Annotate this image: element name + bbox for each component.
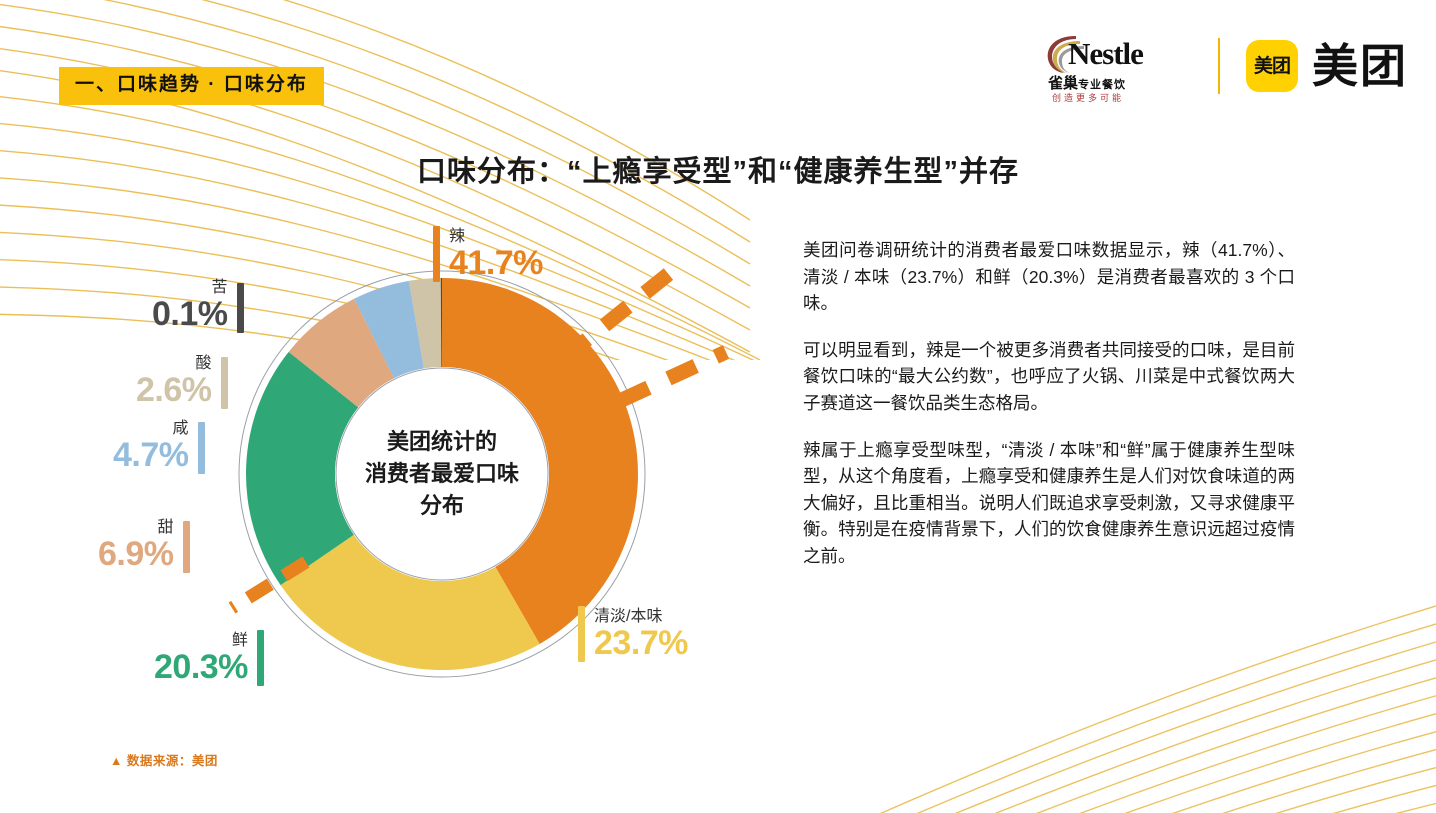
- donut-center-line-3: 分布: [338, 490, 546, 522]
- logo-area: Nestle 雀巢专业餐饮 创造更多可能 美团 美团: [1042, 30, 1408, 102]
- section-badge: 一、口味趋势 · 口味分布: [59, 67, 324, 105]
- donut-center-line-1: 美团统计的: [338, 426, 546, 458]
- callout-xian-umami: 鲜 20.3%: [154, 630, 264, 686]
- callout-bar-suan: [221, 357, 228, 409]
- callout-bar-la: [433, 226, 440, 282]
- callout-value-qingdan: 23.7%: [594, 626, 688, 662]
- callout-suan: 酸 2.6%: [136, 355, 228, 409]
- slide-root: 一、口味趋势 · 口味分布 Nestle 雀巢专业餐饮 创造更多可能 美团 美团…: [0, 0, 1436, 813]
- callout-value-xian-salty: 4.7%: [113, 438, 189, 474]
- analysis-paragraph-1: 美团问卷调研统计的消费者最爱口味数据显示，辣（41.7%）、清淡 / 本味（23…: [803, 237, 1295, 317]
- meituan-wordmark: 美团: [1312, 43, 1408, 89]
- callout-value-tian: 6.9%: [98, 537, 174, 573]
- nestle-cn-name: 雀巢专业餐饮: [1048, 72, 1126, 93]
- callout-value-ku: 0.1%: [152, 297, 228, 333]
- callout-value-xian-umami: 20.3%: [154, 650, 248, 686]
- callout-bar-xian-salty: [198, 422, 205, 474]
- callout-ku: 苦 0.1%: [152, 279, 244, 333]
- donut-center-line-2: 消费者最爱口味: [338, 458, 546, 490]
- donut-center-label: 美团统计的 消费者最爱口味 分布: [338, 426, 546, 522]
- meituan-app-icon: 美团: [1246, 40, 1298, 92]
- callout-bar-tian: [183, 521, 190, 573]
- logo-divider: [1218, 38, 1220, 94]
- data-source-footnote: ▲ 数据来源：美团: [110, 750, 218, 769]
- callout-qingdan: 清淡/本味 23.7%: [578, 606, 688, 662]
- analysis-paragraph-3: 辣属于上瘾享受型味型，“清淡 / 本味”和“鲜”属于健康养生型味型，从这个角度看…: [803, 437, 1295, 570]
- callout-bar-ku: [237, 283, 244, 333]
- nestle-tagline: 创造更多可能: [1052, 91, 1124, 104]
- decorative-dashed-rays-right: [556, 240, 776, 440]
- nestle-logo: Nestle 雀巢专业餐饮 创造更多可能: [1042, 30, 1192, 102]
- meituan-app-icon-text: 美团: [1254, 57, 1290, 76]
- analysis-text-column: 美团问卷调研统计的消费者最爱口味数据显示，辣（41.7%）、清淡 / 本味（23…: [803, 237, 1295, 590]
- callout-tian: 甜 6.9%: [98, 519, 190, 573]
- callout-bar-xian-umami: [257, 630, 264, 686]
- callout-value-suan: 2.6%: [136, 373, 212, 409]
- decorative-dashed-rays-left: [224, 556, 314, 626]
- callout-value-la: 41.7%: [449, 246, 543, 282]
- chart-title: 口味分布：“上瘾享受型”和“健康养生型”并存: [0, 148, 1436, 190]
- callout-xian-salty: 咸 4.7%: [113, 420, 205, 474]
- analysis-paragraph-2: 可以明显看到，辣是一个被更多消费者共同接受的口味，是目前餐饮口味的“最大公约数”…: [803, 337, 1295, 417]
- callout-bar-qingdan: [578, 606, 585, 662]
- callout-la: 辣 41.7%: [433, 226, 543, 282]
- nestle-wordmark: Nestle: [1068, 36, 1143, 72]
- meituan-logo: 美团 美团: [1246, 40, 1408, 92]
